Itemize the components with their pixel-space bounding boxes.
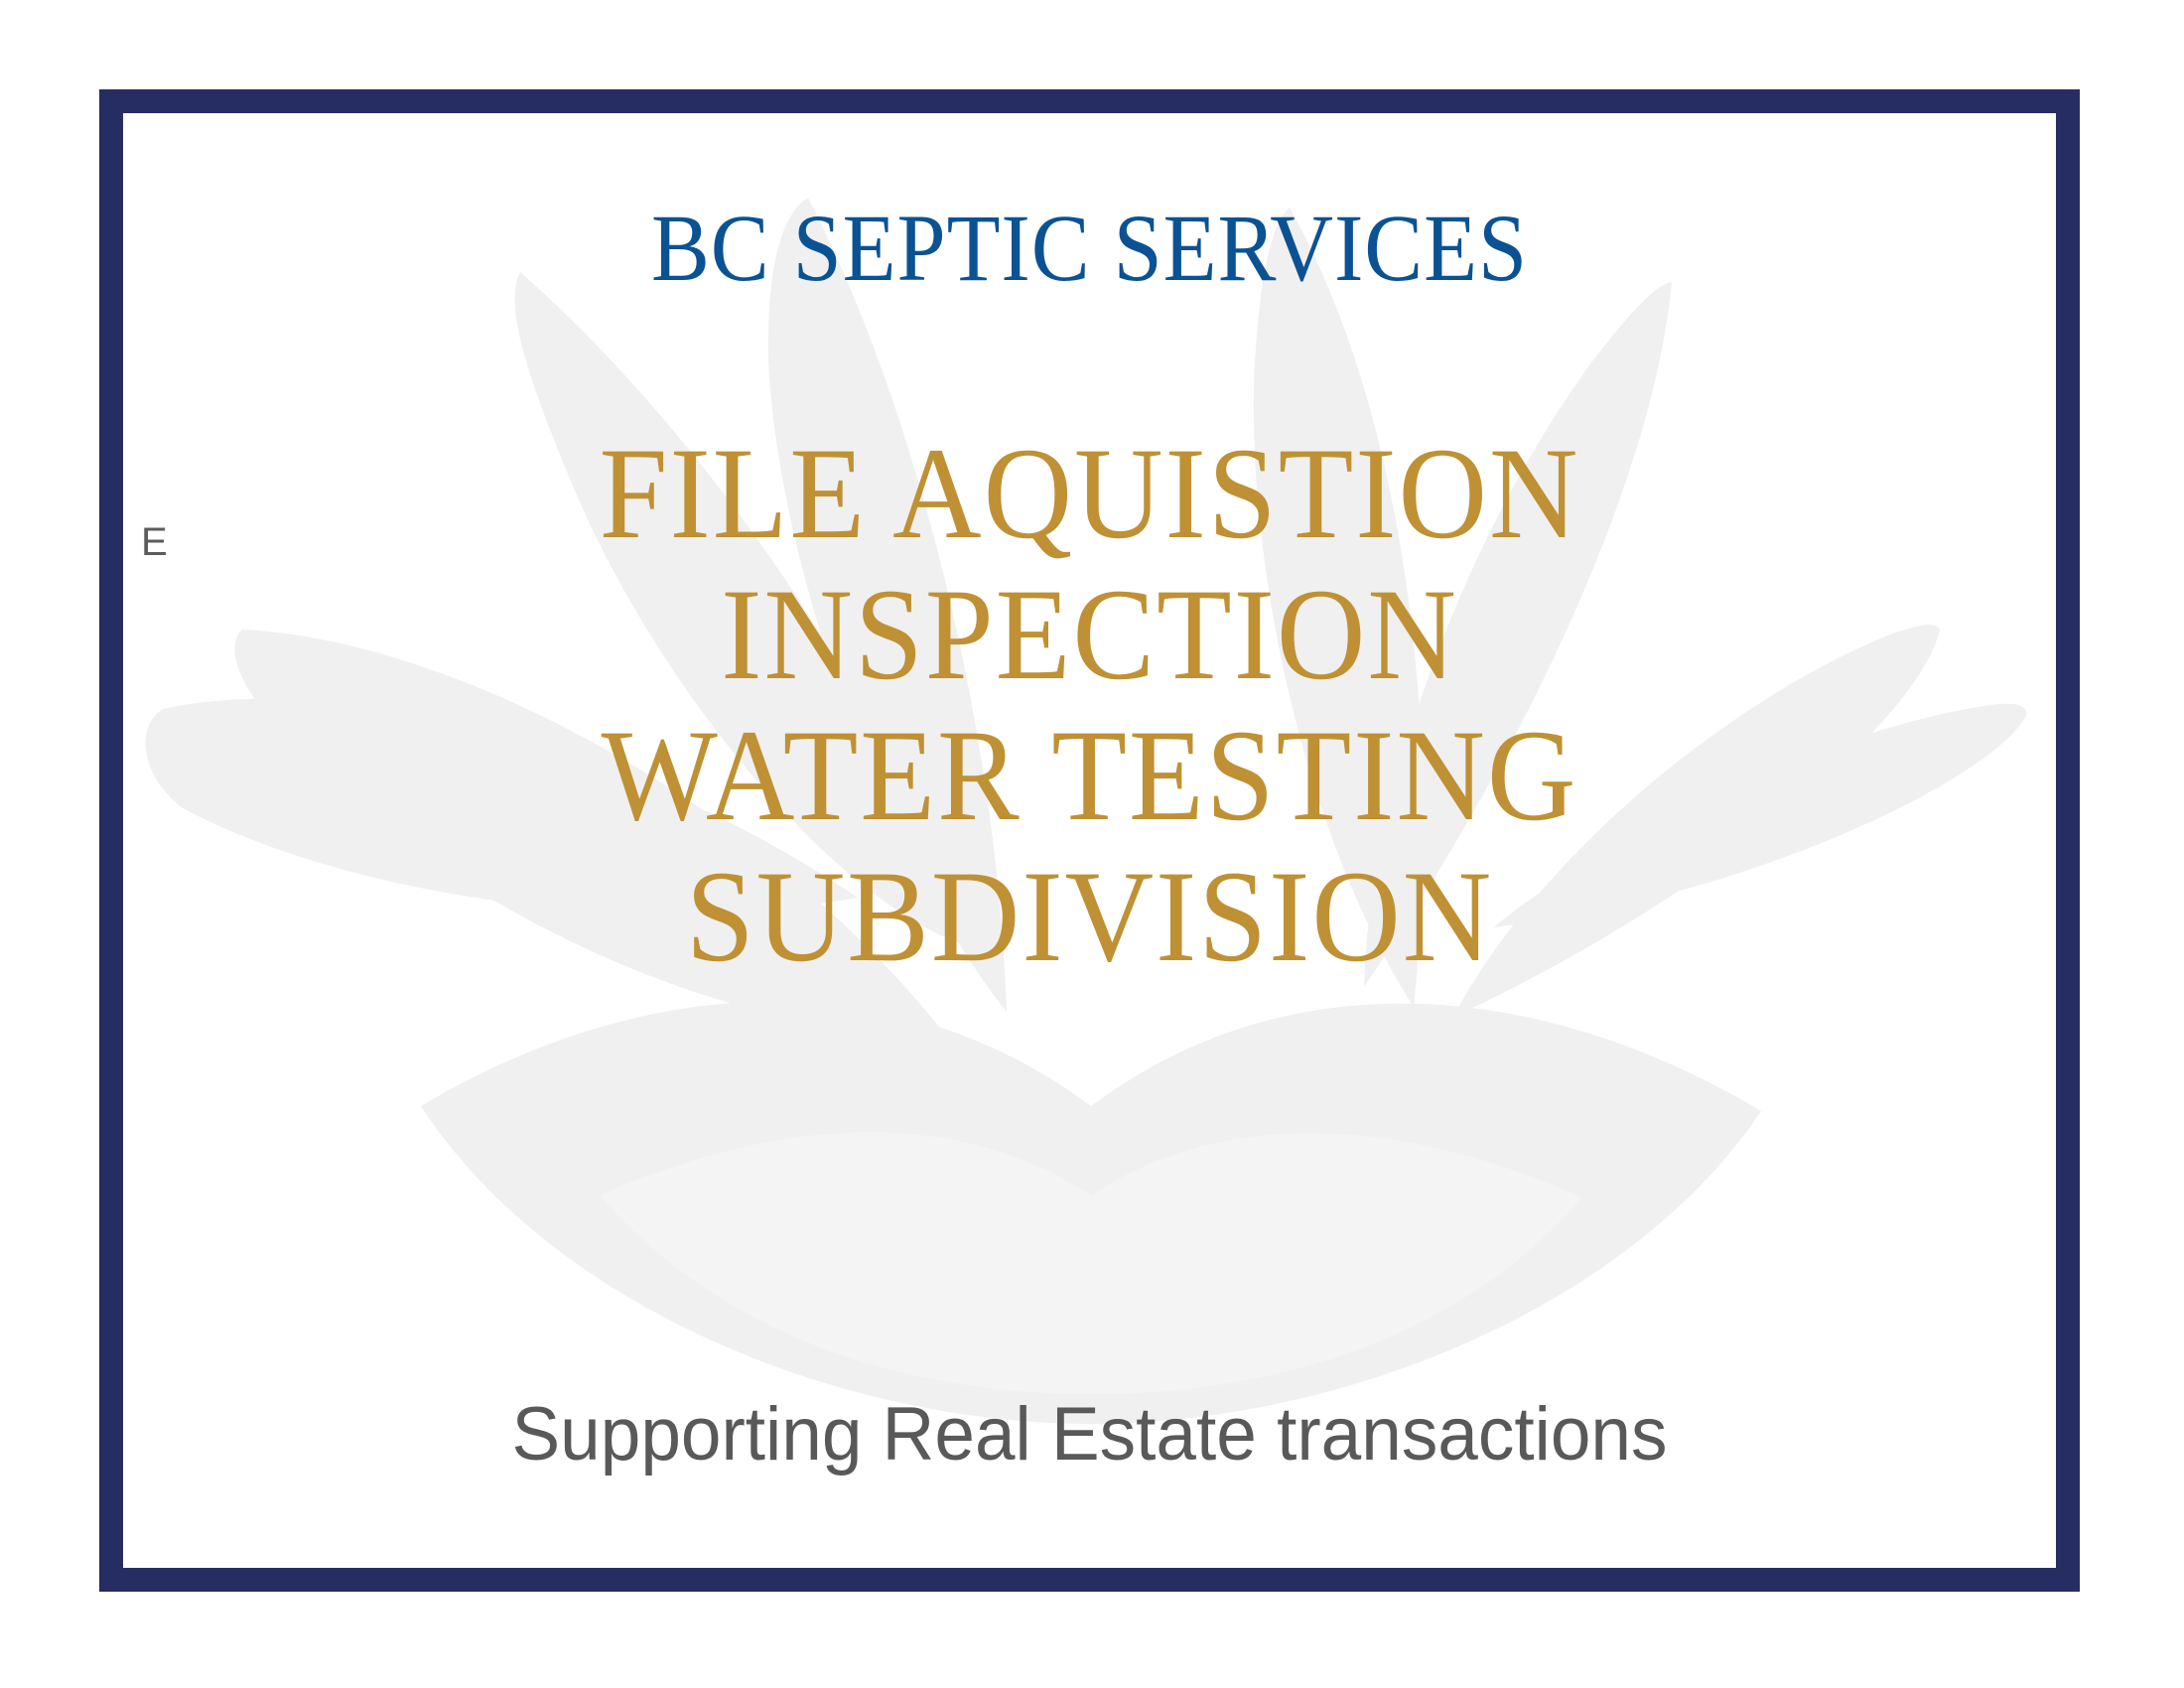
poster-canvas: BC SEPTIC SERVICES E FILE AQUISTION INSP… — [0, 0, 2184, 1688]
poster-content: BC SEPTIC SERVICES E FILE AQUISTION INSP… — [123, 113, 2056, 1568]
navy-border-frame: BC SEPTIC SERVICES E FILE AQUISTION INSP… — [99, 89, 2080, 1592]
page-title: BC SEPTIC SERVICES — [201, 201, 1979, 296]
service-line-inspection: INSPECTION — [181, 564, 1997, 705]
service-line-subdivision: SUBDIVISION — [181, 846, 1997, 987]
service-line-water-testing: WATER TESTING — [181, 705, 1997, 846]
service-line-file-aquistion: FILE AQUISTION — [181, 423, 1997, 564]
service-list: FILE AQUISTION INSPECTION WATER TESTING … — [123, 423, 2056, 987]
tagline: Supporting Real Estate transactions — [162, 1397, 2017, 1473]
